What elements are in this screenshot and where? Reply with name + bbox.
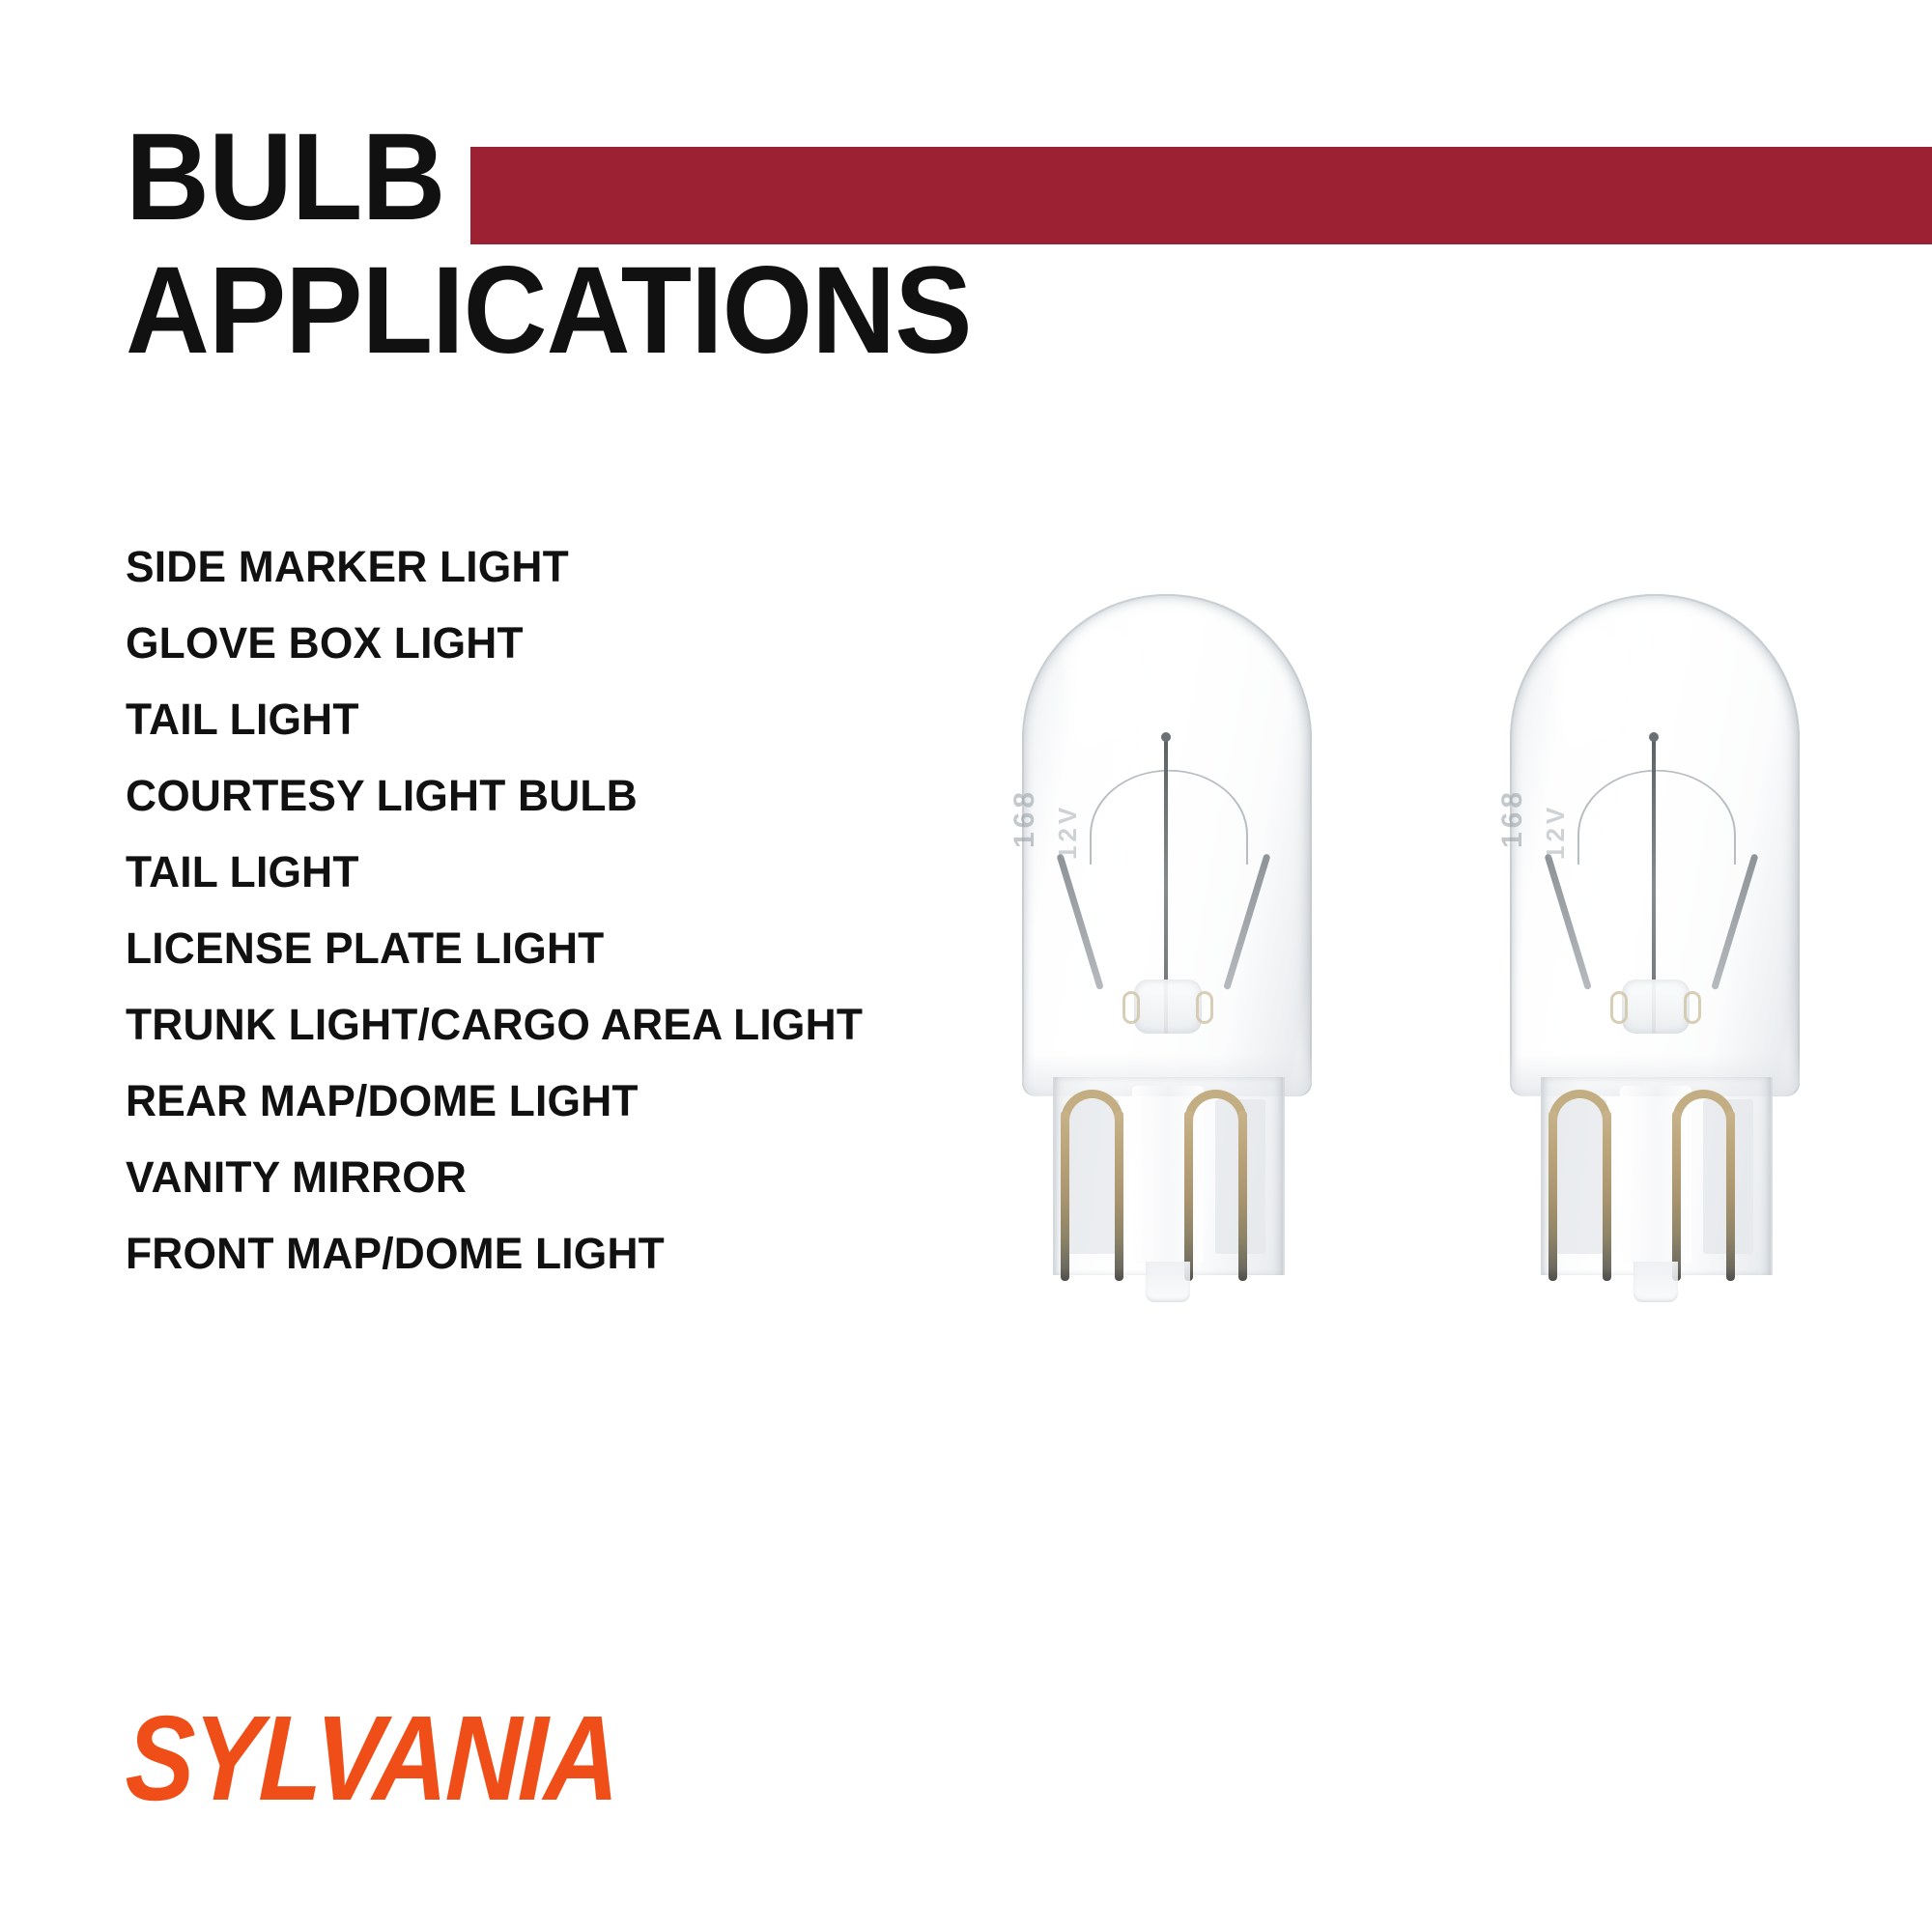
contact-lead-3 xyxy=(1672,1111,1681,1281)
list-item: LICENSE PLATE LIGHT xyxy=(126,918,916,994)
stem-coil-right xyxy=(1196,991,1213,1024)
contact-lead-3 xyxy=(1184,1111,1193,1281)
bulb-stem xyxy=(1134,980,1202,1034)
bulb-base-rib-left xyxy=(1068,1099,1119,1254)
product-image-bulbs: 168 12V 168 12V xyxy=(985,570,1855,1362)
list-item: REAR MAP/DOME LIGHT xyxy=(126,1070,916,1147)
list-item: TAIL LIGHT xyxy=(126,841,916,918)
filament-tip xyxy=(1161,732,1171,742)
list-item: GLOVE BOX LIGHT xyxy=(126,612,916,689)
contact-lead-1 xyxy=(1061,1111,1069,1281)
list-item: SIDE MARKER LIGHT xyxy=(126,536,916,612)
contact-lead-4 xyxy=(1238,1111,1247,1281)
page-title-line-1: BULB xyxy=(126,116,444,240)
bulb-applications-list: SIDE MARKER LIGHT GLOVE BOX LIGHT TAIL L… xyxy=(126,536,927,1299)
bulb-etch-marking-bottom: 12V xyxy=(1053,804,1083,860)
stem-coil-left xyxy=(1122,991,1140,1024)
contact-lead-2 xyxy=(1115,1111,1123,1281)
bulb-etch-marking-top: 168 xyxy=(1009,788,1041,848)
contact-lead-2 xyxy=(1603,1111,1611,1281)
bulb-right: 168 12V xyxy=(1502,570,1811,1333)
bulb-stem xyxy=(1622,980,1690,1034)
bulb-left: 168 12V xyxy=(1014,570,1323,1333)
bulb-base-rib-left xyxy=(1556,1099,1606,1254)
sylvania-logo: SYLVANIA xyxy=(124,1698,619,1819)
list-item: TRUNK LIGHT/CARGO AREA LIGHT xyxy=(126,994,916,1070)
header: BULB APPLICATIONS xyxy=(0,0,1932,415)
stem-coil-left xyxy=(1610,991,1628,1024)
contact-lead-1 xyxy=(1548,1111,1557,1281)
list-item: VANITY MIRROR xyxy=(126,1147,916,1223)
bulb-base-tip xyxy=(1146,1262,1190,1302)
list-item: FRONT MAP/DOME LIGHT xyxy=(126,1223,916,1299)
list-item: COURTESY LIGHT BULB xyxy=(126,765,916,841)
page-title-line-2: APPLICATIONS xyxy=(126,249,972,373)
accent-bar xyxy=(470,147,1932,244)
bulb-base-tip xyxy=(1634,1262,1678,1302)
contact-lead-4 xyxy=(1726,1111,1735,1281)
list-item: TAIL LIGHT xyxy=(126,689,916,765)
stem-coil-right xyxy=(1684,991,1701,1024)
bulb-etch-marking-bottom: 12V xyxy=(1541,804,1571,860)
bulb-etch-marking-top: 168 xyxy=(1496,788,1529,848)
filament-tip xyxy=(1649,732,1659,742)
